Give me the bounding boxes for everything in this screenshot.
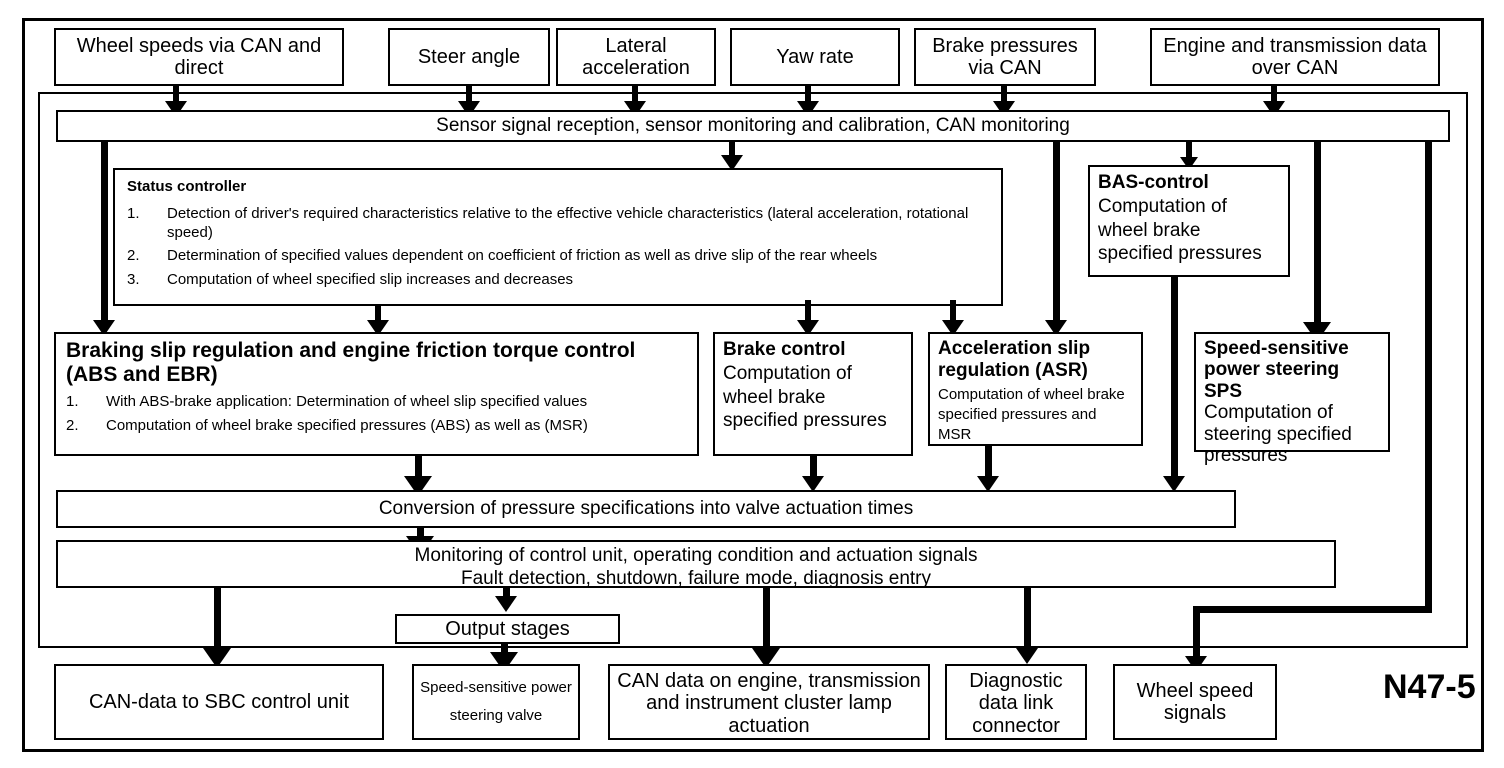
status-controller-title: Status controller xyxy=(127,178,989,197)
arrowhead-output-stages xyxy=(495,596,517,612)
connector-sensor-to-abs xyxy=(101,142,108,328)
list-item: 2. Computation of wheel brake specified … xyxy=(66,417,687,436)
input-box-yaw-rate[interactable]: Yaw rate xyxy=(730,28,900,86)
list-item: 3. Computation of wheel specified slip i… xyxy=(127,271,989,290)
status-item-num-2: 2. xyxy=(127,247,140,266)
list-item: 2. Determination of specified values dep… xyxy=(127,247,989,266)
connector-trunk-right-horizontal xyxy=(1193,606,1432,613)
connector-bas-down xyxy=(1171,277,1178,480)
output-box-can-data-sbc[interactable]: CAN-data to SBC control unit xyxy=(54,664,384,740)
input-label-engine-transmission: Engine and transmission data over CAN xyxy=(1158,35,1432,80)
connector-monitoring-to-sbc xyxy=(214,588,221,650)
status-controller-box[interactable]: Status controller 1. Detection of driver… xyxy=(113,168,1003,306)
output-label-wheel-speed-signals: Wheel speed signals xyxy=(1119,680,1271,725)
brake-control-body: Computation of wheel brake specified pre… xyxy=(723,362,903,433)
input-label-steer-angle: Steer angle xyxy=(418,46,520,68)
sps-box[interactable]: Speed-sensitive power steering SPS Compu… xyxy=(1194,332,1390,452)
abs-item-num-1: 1. xyxy=(66,393,79,412)
arrowhead-diagnostic-connector xyxy=(1016,648,1038,664)
output-label-diagnostic-connector: Diagnostic data link connector xyxy=(951,670,1081,737)
input-box-steer-angle[interactable]: Steer angle xyxy=(388,28,550,86)
abs-item-text-2: Computation of wheel brake specified pre… xyxy=(106,417,588,434)
input-label-yaw-rate: Yaw rate xyxy=(776,46,853,68)
connector-monitoring-to-can-engine xyxy=(763,588,770,650)
sps-body: Computation of steering specified pressu… xyxy=(1204,402,1380,468)
status-item-num-1: 1. xyxy=(127,205,140,224)
input-box-brake-pressures[interactable]: Brake pressures via CAN xyxy=(914,28,1096,86)
sensor-signal-reception-bar[interactable]: Sensor signal reception, sensor monitori… xyxy=(56,110,1450,142)
brake-control-box[interactable]: Brake control Computation of wheel brake… xyxy=(713,332,913,456)
connector-trunk-right-down xyxy=(1193,612,1200,660)
conversion-bar-label: Conversion of pressure specifications in… xyxy=(379,498,913,519)
input-box-lateral-acceleration[interactable]: Lateral acceleration xyxy=(556,28,716,86)
abs-item-text-1: With ABS-brake application: Determinatio… xyxy=(106,393,587,410)
bas-control-box[interactable]: BAS-control Computation of wheel brake s… xyxy=(1088,165,1290,277)
abs-ebr-list: 1. With ABS-brake application: Determina… xyxy=(66,393,687,436)
abs-item-num-2: 2. xyxy=(66,417,79,436)
brake-control-title: Brake control xyxy=(723,338,903,362)
input-label-lateral-acceleration: Lateral acceleration xyxy=(562,35,710,80)
output-label-can-data-sbc: CAN-data to SBC control unit xyxy=(89,691,349,713)
asr-title-line2: regulation (ASR) xyxy=(938,360,1133,382)
status-item-text-1: Detection of driver's required character… xyxy=(167,205,968,241)
status-item-num-3: 3. xyxy=(127,271,140,290)
abs-ebr-title-line1: Braking slip regulation and engine frict… xyxy=(66,339,687,363)
connector-sensor-to-sps xyxy=(1314,142,1321,328)
sps-title-line1: Speed-sensitive xyxy=(1204,338,1380,359)
output-box-can-data-engine[interactable]: CAN data on engine, transmission and ins… xyxy=(608,664,930,740)
bas-control-title: BAS-control xyxy=(1098,171,1280,195)
input-box-engine-transmission[interactable]: Engine and transmission data over CAN xyxy=(1150,28,1440,86)
connector-status-to-asr xyxy=(950,300,956,322)
output-label-sps-valve: Speed-sensitive power steering valve xyxy=(420,674,572,731)
list-item: 1. With ABS-brake application: Determina… xyxy=(66,393,687,412)
monitoring-line-2: Fault detection, shutdown, failure mode,… xyxy=(461,568,931,591)
output-box-diagnostic-connector[interactable]: Diagnostic data link connector xyxy=(945,664,1087,740)
connector-asr-to-conversion xyxy=(985,446,992,480)
input-label-wheel-speeds: Wheel speeds via CAN and direct xyxy=(62,35,336,80)
status-item-text-3: Computation of wheel specified slip incr… xyxy=(167,271,573,288)
connector-trunk-right xyxy=(1425,142,1432,612)
abs-ebr-title-line2: (ABS and EBR) xyxy=(66,363,687,387)
diagram-code-label: N47-5 xyxy=(1383,668,1503,712)
sps-title-line2: power steering xyxy=(1204,359,1380,380)
monitoring-line-1: Monitoring of control unit, operating co… xyxy=(415,545,978,568)
connector-sensor-to-asr xyxy=(1053,142,1060,322)
status-item-text-2: Determination of specified values depend… xyxy=(167,247,877,264)
abs-ebr-box[interactable]: Braking slip regulation and engine frict… xyxy=(54,332,699,456)
conversion-bar[interactable]: Conversion of pressure specifications in… xyxy=(56,490,1236,528)
monitoring-bar[interactable]: Monitoring of control unit, operating co… xyxy=(56,540,1336,588)
status-controller-list: 1. Detection of driver's required charac… xyxy=(127,205,989,290)
output-stages-box[interactable]: Output stages xyxy=(395,614,620,644)
output-stages-label: Output stages xyxy=(445,618,570,640)
output-label-can-data-engine: CAN data on engine, transmission and ins… xyxy=(616,670,922,737)
bas-control-body: Computation of wheel brake specified pre… xyxy=(1098,195,1280,266)
list-item: 1. Detection of driver's required charac… xyxy=(127,205,989,243)
connector-sensor-to-brake-control xyxy=(805,300,811,322)
output-box-sps-valve[interactable]: Speed-sensitive power steering valve xyxy=(412,664,580,740)
diagram-canvas: Wheel speeds via CAN and direct Steer an… xyxy=(0,0,1504,768)
input-label-brake-pressures: Brake pressures via CAN xyxy=(920,35,1090,80)
sps-title-line3: SPS xyxy=(1204,381,1380,402)
sensor-bar-label: Sensor signal reception, sensor monitori… xyxy=(436,115,1070,136)
input-box-wheel-speeds[interactable]: Wheel speeds via CAN and direct xyxy=(54,28,344,86)
asr-title-line1: Acceleration slip xyxy=(938,338,1133,360)
asr-box[interactable]: Acceleration slip regulation (ASR) Compu… xyxy=(928,332,1143,446)
asr-body: Computation of wheel brake specified pre… xyxy=(938,385,1133,446)
connector-monitoring-to-diagnostic xyxy=(1024,588,1031,650)
output-box-wheel-speed-signals[interactable]: Wheel speed signals xyxy=(1113,664,1277,740)
